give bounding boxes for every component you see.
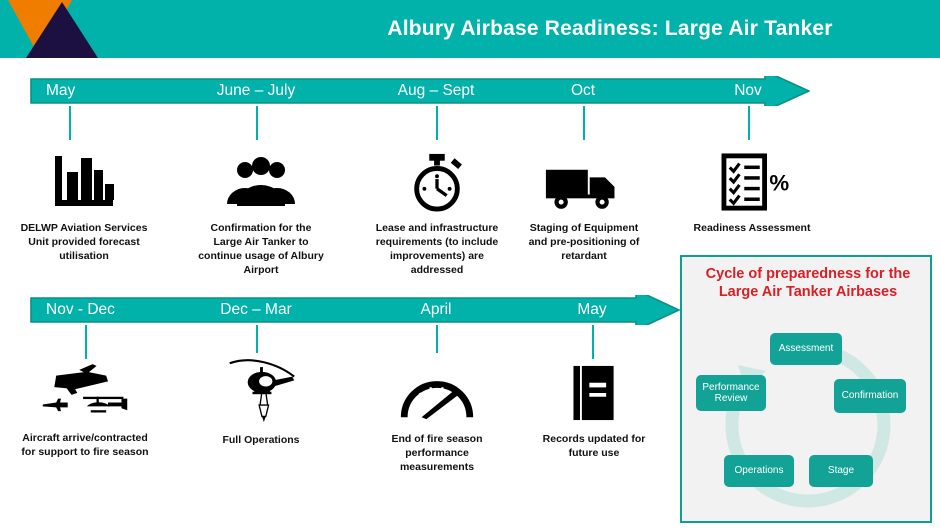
- timeline-caption: End of fire season performance measureme…: [372, 433, 502, 475]
- timeline-item-june-july: Confirmation for the Large Air Tanker to…: [196, 140, 326, 277]
- cycle-stage-label: Performance Review: [700, 382, 762, 405]
- timeline-caption: Readiness Assessment: [692, 222, 812, 236]
- cycle-stage-label: Operations: [735, 465, 784, 477]
- aircraft-fleet-icon: [20, 358, 150, 422]
- bar-chart-icon: [14, 140, 154, 212]
- cycle-title: Cycle of preparedness for the Large Air …: [690, 265, 926, 301]
- cycle-stage-operations[interactable]: Operations: [724, 455, 794, 487]
- cycle-stage-performance-review[interactable]: Performance Review: [696, 375, 766, 411]
- connector-tick: [748, 106, 750, 140]
- connector-tick: [436, 325, 438, 353]
- connector-tick: [256, 325, 258, 353]
- truck-icon: [524, 140, 644, 212]
- connector-tick: [436, 106, 438, 140]
- timeline-item-nov-dec: Aircraft arrive/contracted for support t…: [20, 358, 150, 460]
- timeline-arrow-1: May June – July Aug – Sept Oct Nov: [30, 76, 810, 106]
- page-title: Albury Airbase Readiness: Large Air Tank…: [300, 0, 920, 58]
- gauge-icon: [372, 355, 502, 423]
- svg-text:%: %: [769, 171, 789, 196]
- connector-tick: [583, 106, 585, 140]
- timeline-caption: Staging of Equipment and pre-positioning…: [524, 222, 644, 264]
- helicopter-bucket-icon: [196, 352, 326, 424]
- timeline-item-nov: % Readiness Assessment: [692, 140, 812, 236]
- month-label-nov: Nov: [734, 82, 762, 100]
- timeline-item-dec-mar: Full Operations: [196, 352, 326, 448]
- cycle-stage-label: Stage: [828, 465, 854, 477]
- people-group-icon: [196, 140, 326, 212]
- checklist-percent-icon: %: [692, 140, 812, 212]
- cycle-of-preparedness-panel: Cycle of preparedness for the Large Air …: [680, 255, 932, 523]
- timeline-caption: Lease and infrastructure requirements (t…: [370, 222, 504, 277]
- timeline-item-april: End of fire season performance measureme…: [372, 355, 502, 475]
- month-label-april: April: [420, 301, 451, 319]
- timeline-arrow-2: Nov - Dec Dec – Mar April May: [30, 295, 680, 325]
- month-label-nov-dec: Nov - Dec: [46, 301, 115, 319]
- timeline-item-may-2: Records updated for future use: [534, 355, 654, 461]
- month-label-oct: Oct: [571, 82, 595, 100]
- month-label-dec-mar: Dec – Mar: [220, 301, 292, 319]
- connector-tick: [85, 325, 87, 359]
- department-logo: [0, 0, 130, 58]
- cycle-stage-confirmation[interactable]: Confirmation: [834, 379, 906, 413]
- cycle-stage-label: Assessment: [779, 343, 833, 355]
- timeline-caption: Aircraft arrive/contracted for support t…: [20, 432, 150, 460]
- month-label-may: May: [46, 82, 75, 100]
- cycle-stage-stage[interactable]: Stage: [809, 455, 873, 487]
- slide-canvas: Albury Airbase Readiness: Large Air Tank…: [0, 0, 940, 529]
- connector-tick: [256, 106, 258, 140]
- slide-header: Albury Airbase Readiness: Large Air Tank…: [0, 0, 940, 58]
- timeline-item-oct: Staging of Equipment and pre-positioning…: [524, 140, 644, 264]
- timeline-caption: Records updated for future use: [534, 433, 654, 461]
- timeline-item-may: DELWP Aviation Services Unit provided fo…: [14, 140, 154, 264]
- cycle-stage-label: Confirmation: [842, 390, 899, 402]
- timeline-caption: Confirmation for the Large Air Tanker to…: [196, 222, 326, 277]
- month-label-june-july: June – July: [217, 82, 295, 100]
- timeline-caption: DELWP Aviation Services Unit provided fo…: [14, 222, 154, 264]
- month-label-may-2: May: [577, 301, 606, 319]
- timeline-caption: Full Operations: [196, 434, 326, 448]
- connector-tick: [592, 325, 594, 359]
- timeline-item-aug-sept: Lease and infrastructure requirements (t…: [370, 140, 504, 277]
- month-label-aug-sept: Aug – Sept: [398, 82, 475, 100]
- connector-tick: [69, 106, 71, 140]
- cycle-stage-assessment[interactable]: Assessment: [770, 333, 842, 365]
- book-icon: [534, 355, 654, 423]
- stopwatch-icon: [370, 140, 504, 212]
